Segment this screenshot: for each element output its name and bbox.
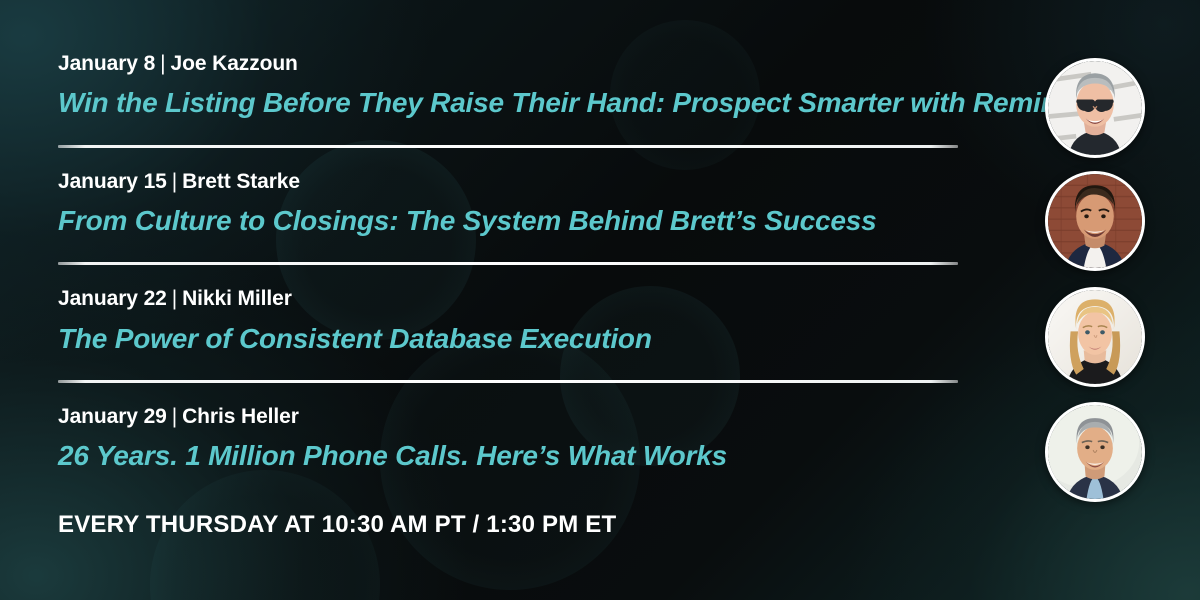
session-speaker-4: Chris Heller bbox=[182, 405, 299, 428]
session-title-1[interactable]: Win the Listing Before They Raise Their … bbox=[58, 86, 960, 120]
nikki-miller-avatar bbox=[1045, 287, 1145, 387]
chris-heller-avatar bbox=[1045, 402, 1145, 502]
session-item-1[interactable]: January 8|Joe Kazzoun Win the Listing Be… bbox=[58, 52, 960, 120]
session-date-4: January 29 bbox=[58, 405, 167, 428]
session-title-3[interactable]: The Power of Consistent Database Executi… bbox=[58, 322, 960, 356]
session-divider-3 bbox=[58, 380, 958, 383]
session-item-4[interactable]: January 29|Chris Heller 26 Years. 1 Mill… bbox=[58, 405, 960, 473]
session-date-2: January 15 bbox=[58, 170, 167, 193]
session-meta-4: January 29|Chris Heller bbox=[58, 405, 960, 429]
session-divider-2 bbox=[58, 262, 958, 265]
webinar-series-banner: January 8|Joe Kazzoun Win the Listing Be… bbox=[0, 0, 1200, 600]
brett-starke-portrait-icon bbox=[1048, 174, 1142, 268]
session-list: January 8|Joe Kazzoun Win the Listing Be… bbox=[58, 52, 960, 473]
schedule-note: EVERY THURSDAY AT 10:30 AM PT / 1:30 PM … bbox=[58, 511, 616, 539]
session-meta-3: January 22|Nikki Miller bbox=[58, 287, 960, 311]
nikki-miller-portrait-icon bbox=[1048, 290, 1142, 384]
session-item-3[interactable]: January 22|Nikki Miller The Power of Con… bbox=[58, 287, 960, 355]
session-title-4[interactable]: 26 Years. 1 Million Phone Calls. Here’s … bbox=[58, 439, 960, 473]
chris-heller-portrait-icon bbox=[1048, 405, 1142, 499]
session-separator-4: | bbox=[167, 405, 182, 428]
session-meta-2: January 15|Brett Starke bbox=[58, 170, 960, 194]
session-speaker-3: Nikki Miller bbox=[182, 287, 292, 310]
session-speaker-1: Joe Kazzoun bbox=[171, 52, 298, 75]
session-separator-3: | bbox=[167, 287, 182, 310]
session-date-1: January 8 bbox=[58, 52, 155, 75]
brett-starke-avatar bbox=[1045, 171, 1145, 271]
session-separator-2: | bbox=[167, 170, 182, 193]
session-meta-1: January 8|Joe Kazzoun bbox=[58, 52, 960, 76]
joe-kazzoun-avatar bbox=[1045, 58, 1145, 158]
session-title-2[interactable]: From Culture to Closings: The System Beh… bbox=[58, 204, 960, 238]
session-speaker-2: Brett Starke bbox=[182, 170, 300, 193]
session-item-2[interactable]: January 15|Brett Starke From Culture to … bbox=[58, 170, 960, 238]
session-date-3: January 22 bbox=[58, 287, 167, 310]
session-divider-1 bbox=[58, 145, 958, 148]
joe-kazzoun-portrait-icon bbox=[1048, 61, 1142, 155]
session-separator-1: | bbox=[155, 52, 170, 75]
